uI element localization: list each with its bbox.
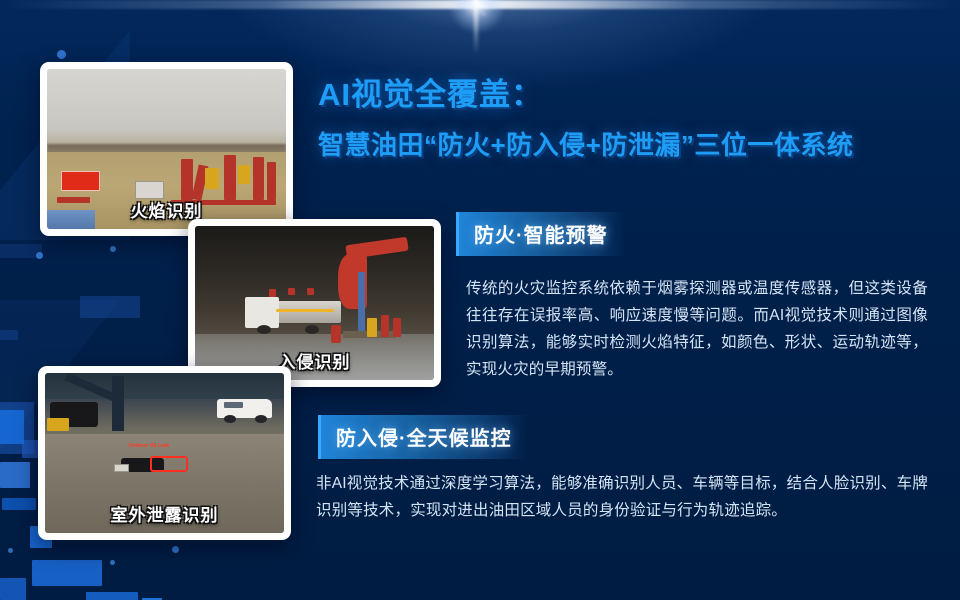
truck-wheel: [257, 325, 271, 334]
safety-cone: [331, 325, 341, 343]
decor-dot: [110, 560, 115, 565]
truck-light-strip: [276, 309, 333, 312]
decor-dot: [36, 252, 43, 259]
sky-haze: [47, 69, 286, 152]
pumpjack: [181, 159, 193, 201]
section-body-intrusion-prevention: 非AI视觉技术通过深度学习算法，能够准确识别人员、车辆等目标，结合人脸识别、车牌…: [316, 470, 928, 524]
truck-wheel: [305, 325, 319, 334]
card-caption: 室外泄露识别: [45, 501, 284, 526]
decor-block: [0, 462, 30, 488]
decor-dot: [110, 246, 116, 252]
drilling-rig: [112, 376, 124, 430]
photo-leak: Outdoor Oil Leak 室外泄露识别: [45, 373, 284, 533]
section-body-fire-prevention: 传统的火灾监控系统依赖于烟雾探测器或温度传感器，但这类设备往往存在误报率高、响应…: [466, 275, 928, 383]
decor-block: [86, 592, 138, 600]
wellhead-valve: [393, 318, 400, 336]
wellhead-valve: [381, 315, 388, 337]
pumpjack: [224, 155, 236, 200]
section-badge-fire-prevention: 防火·智能预警: [456, 212, 624, 256]
truck-marker-light: [307, 288, 314, 296]
truck-marker-light: [269, 289, 276, 297]
slide-title-line2: 智慧油田“防火+防入侵+防泄漏”三位一体系统: [318, 125, 853, 162]
photo-intrusion: 入侵识别: [195, 226, 434, 380]
pumpjack-counterweight: [205, 168, 219, 189]
truck-marker-light: [288, 288, 295, 296]
decor-block: [0, 330, 18, 340]
van-wheel: [255, 415, 267, 423]
pumpjack-counterweight: [238, 165, 250, 184]
pumpjack-tower: [358, 272, 365, 337]
decor-block: [80, 296, 140, 318]
small-marker: [114, 464, 128, 472]
decor-block: [0, 410, 24, 444]
pumpjack: [253, 157, 265, 200]
tanker-trailer: [269, 301, 341, 323]
photo-card-flame[interactable]: 火焰识别: [40, 62, 293, 236]
night-cliff: [195, 226, 434, 291]
decor-block: [2, 498, 36, 510]
van-window: [224, 402, 243, 408]
photo-card-intrusion[interactable]: 入侵识别: [188, 219, 441, 387]
van-wheel: [224, 415, 236, 423]
section-badge-intrusion-prevention: 防入侵·全天候监控: [318, 415, 528, 459]
excavator-bucket: [47, 418, 69, 431]
decor-block: [32, 560, 102, 586]
decor-dot: [172, 546, 179, 553]
red-signboard: [61, 171, 99, 190]
wellhead-equipment: [367, 318, 377, 336]
slide-title-line1: AI视觉全覆盖：: [318, 69, 543, 114]
photo-card-leak[interactable]: Outdoor Oil Leak 室外泄露识别: [38, 366, 291, 540]
photo-flame: 火焰识别: [47, 69, 286, 229]
pumpjack: [267, 162, 277, 200]
decor-dot: [8, 548, 13, 553]
shed: [135, 181, 164, 199]
decor-dot: [57, 50, 66, 59]
decor-block: [0, 578, 26, 600]
detection-bounding-box: [150, 456, 188, 472]
detection-label: Outdoor Oil Leak: [129, 443, 170, 449]
truck-cab: [245, 297, 278, 328]
